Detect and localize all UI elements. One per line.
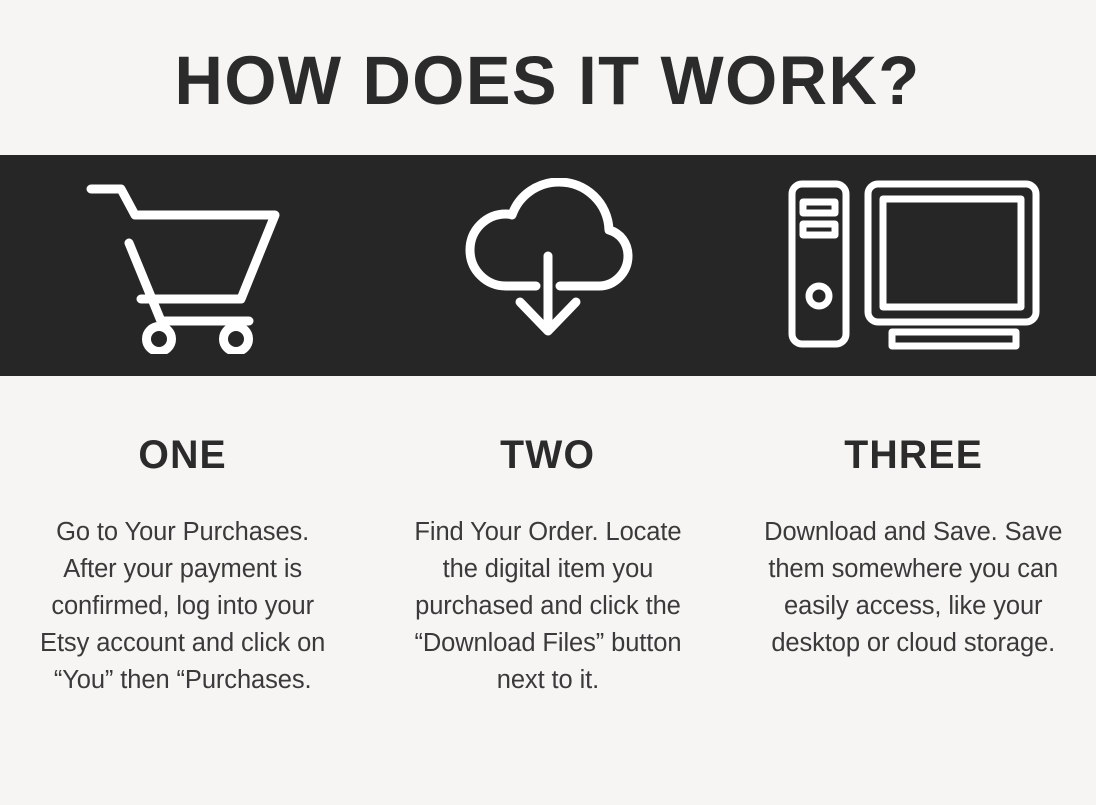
step-three-heading: THREE: [762, 435, 1065, 475]
step-one: ONE Go to Your Purchases. After your pay…: [0, 435, 365, 699]
cloud-download-icon: [462, 178, 634, 354]
step-one-heading: ONE: [31, 435, 334, 475]
icon-cell-two: [365, 155, 730, 376]
title-area: HOW DOES IT WORK?: [0, 0, 1096, 155]
icon-band: [0, 155, 1096, 376]
step-two: TWO Find Your Order. Locate the digital …: [365, 435, 730, 699]
step-one-body: Go to Your Purchases. After your payment…: [28, 514, 337, 699]
infographic-page: HOW DOES IT WORK?: [0, 0, 1096, 805]
step-two-body: Find Your Order. Locate the digital item…: [398, 514, 698, 699]
desktop-computer-icon: [788, 180, 1040, 352]
steps-section: ONE Go to Your Purchases. After your pay…: [0, 376, 1096, 805]
page-title: HOW DOES IT WORK?: [175, 40, 921, 115]
step-three-body: Download and Save. Save them somewhere y…: [759, 514, 1068, 662]
shopping-cart-icon: [83, 179, 283, 354]
icon-cell-one: [0, 155, 365, 376]
icon-cell-three: [731, 155, 1096, 376]
step-two-heading: TWO: [396, 435, 699, 475]
step-three: THREE Download and Save. Save them somew…: [731, 435, 1096, 662]
